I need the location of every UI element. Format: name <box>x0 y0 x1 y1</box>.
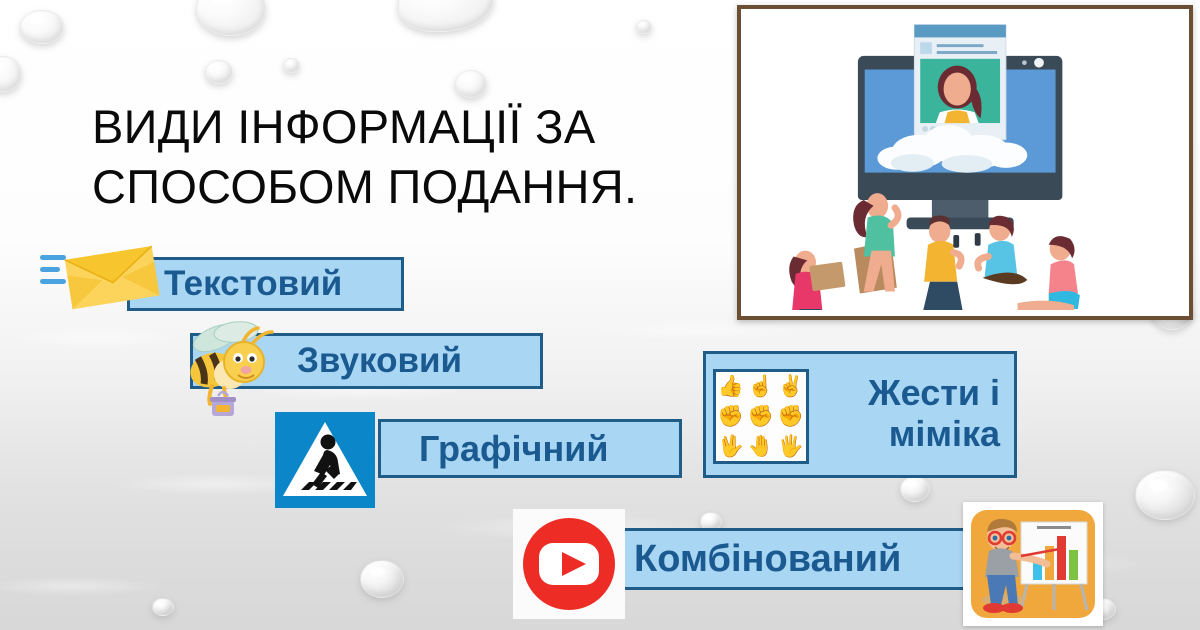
category-label-text: Текстовий <box>130 264 352 304</box>
water-droplet <box>1135 470 1195 520</box>
water-droplet <box>20 10 64 44</box>
water-droplet <box>636 20 652 34</box>
category-chip-combined[interactable]: Комбінований <box>621 528 1021 590</box>
water-droplet <box>900 476 930 502</box>
pedestrian-crossing-sign-svg <box>275 412 375 508</box>
category-label-combined: Комбінований <box>624 538 911 581</box>
envelope-icon <box>38 243 160 311</box>
water-droplet <box>152 598 174 616</box>
water-droplet <box>205 60 233 84</box>
category-chip-graphic[interactable]: Графічний <box>378 419 682 478</box>
gesture-glyph: ✊ <box>748 406 774 427</box>
pedestrian-crossing-sign-icon <box>275 412 375 508</box>
social-media-illustration-frame <box>737 5 1193 320</box>
gesture-glyph: 🖐 <box>778 436 804 457</box>
bee-icon-svg <box>178 318 298 418</box>
gesture-glyph: ✌ <box>778 376 804 397</box>
slide-canvas: ВИДИ ІНФОРМАЦІЇ ЗА СПОСОБОМ ПОДАННЯ. <box>0 0 1200 630</box>
social-media-illustration-svg <box>747 15 1183 310</box>
category-label-graphic: Графічний <box>381 428 618 470</box>
gesture-glyph: ✊ <box>718 406 744 427</box>
gesture-glyph: 👍 <box>718 376 744 397</box>
gesture-glyph: ☝ <box>748 376 774 397</box>
presenter-illustration-svg <box>963 502 1103 626</box>
page-title-line-2: СПОСОБОМ ПОДАННЯ. <box>92 157 712 217</box>
bee-icon <box>178 318 298 418</box>
gesture-glyph: ✊ <box>778 406 804 427</box>
category-label-gestures-line-1: Жести і <box>868 374 1000 412</box>
water-droplet <box>196 0 266 36</box>
category-label-gestures-line-2: міміка <box>889 412 1000 455</box>
water-droplet <box>360 560 404 598</box>
gesture-glyph: 🖖 <box>718 436 744 457</box>
social-media-illustration <box>747 15 1183 310</box>
youtube-play-icon-svg <box>513 509 625 619</box>
gesture-glyph: 🤚 <box>748 436 774 457</box>
water-droplet <box>398 0 494 32</box>
water-droplet <box>455 70 487 98</box>
envelope-icon-svg <box>38 243 160 311</box>
youtube-play-icon <box>513 509 625 619</box>
category-chip-text[interactable]: Текстовий <box>127 257 404 311</box>
page-title-line-1: ВИДИ ІНФОРМАЦІЇ ЗА <box>92 97 712 157</box>
water-droplet <box>283 58 300 73</box>
hand-gestures-grid-icon: 👍 ☝ ✌ ✊ ✊ ✊ 🖖 🤚 🖐 <box>713 369 809 464</box>
water-droplet <box>0 56 22 92</box>
page-title: ВИДИ ІНФОРМАЦІЇ ЗА СПОСОБОМ ПОДАННЯ. <box>92 97 712 217</box>
presenter-illustration <box>963 502 1103 626</box>
